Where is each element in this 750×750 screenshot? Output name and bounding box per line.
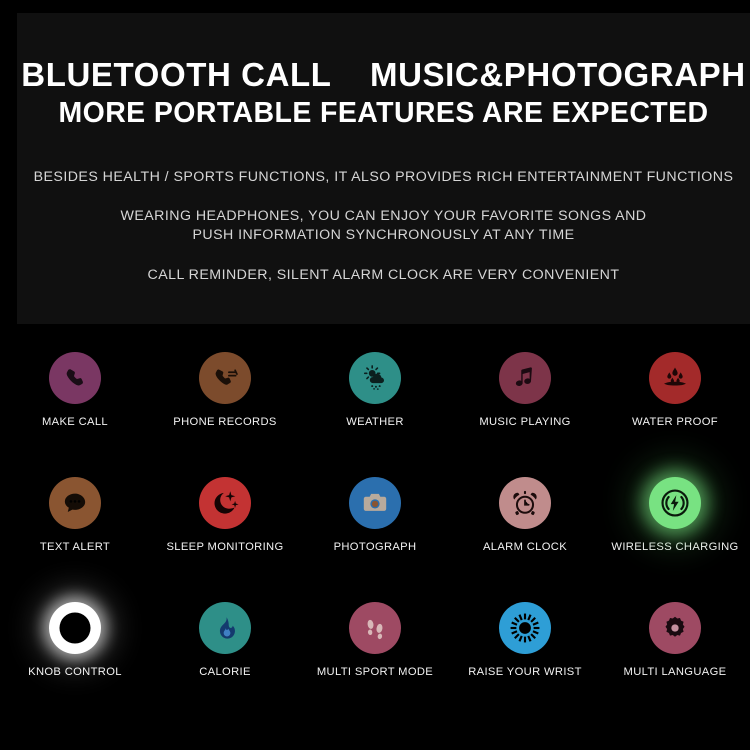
feature-item-water-proof[interactable]: WATER PROOF (600, 352, 750, 477)
speech-bubble-icon[interactable] (49, 477, 101, 529)
feature-label: MULTI LANGUAGE (624, 666, 727, 678)
feature-label: MULTI SPORT MODE (317, 666, 433, 678)
flame-icon[interactable] (199, 602, 251, 654)
feature-item-knob-control[interactable]: KNOB CONTROL (0, 602, 150, 727)
alarm-clock-icon[interactable] (499, 477, 551, 529)
feature-label: KNOB CONTROL (28, 666, 122, 678)
feature-item-music-playing[interactable]: MUSIC PLAYING (450, 352, 600, 477)
feature-label: PHONE RECORDS (173, 416, 276, 428)
wireless-charging-icon[interactable] (649, 477, 701, 529)
feature-item-multi-language[interactable]: MULTI LANGUAGE (600, 602, 750, 727)
feature-label: WIRELESS CHARGING (611, 541, 738, 553)
feature-label: CALORIE (199, 666, 251, 678)
feature-label: RAISE YOUR WRIST (468, 666, 582, 678)
subcopy-block: BESIDES HEALTH / SPORTS FUNCTIONS, IT AL… (17, 168, 750, 285)
feature-item-wireless-charging[interactable]: WIRELESS CHARGING (600, 477, 750, 602)
feature-label: MAKE CALL (42, 416, 108, 428)
water-drop-icon[interactable] (649, 352, 701, 404)
feature-item-sleep-monitoring[interactable]: SLEEP MONITORING (150, 477, 300, 602)
headline-secondary: MORE PORTABLE FEATURES ARE EXPECTED (17, 96, 750, 132)
feature-item-alarm-clock[interactable]: ALARM CLOCK (450, 477, 600, 602)
subcopy-line-2: WEARING HEADPHONES, YOU CAN ENJOY YOUR F… (17, 207, 750, 226)
feature-label: PHOTOGRAPH (334, 541, 417, 553)
feature-item-raise-your-wrist[interactable]: RAISE YOUR WRIST (450, 602, 600, 727)
headline-block: BLUETOOTH CALL MUSIC&PHOTOGRAPH MORE POR… (17, 57, 750, 131)
feature-label: MUSIC PLAYING (479, 416, 570, 428)
feature-item-calorie[interactable]: CALORIE (150, 602, 300, 727)
feature-label: ALARM CLOCK (483, 541, 567, 553)
feature-label: WATER PROOF (632, 416, 718, 428)
feature-item-weather[interactable]: WEATHER (300, 352, 450, 477)
subcopy-line-1: BESIDES HEALTH / SPORTS FUNCTIONS, IT AL… (17, 168, 750, 187)
feature-label: TEXT ALERT (40, 541, 110, 553)
camera-icon[interactable] (349, 477, 401, 529)
gear-icon[interactable] (649, 602, 701, 654)
phone-icon[interactable] (49, 352, 101, 404)
headline-primary: BLUETOOTH CALL MUSIC&PHOTOGRAPH (17, 57, 750, 93)
music-note-icon[interactable] (499, 352, 551, 404)
feature-item-multi-sport-mode[interactable]: MULTI SPORT MODE (300, 602, 450, 727)
feature-label: SLEEP MONITORING (166, 541, 283, 553)
feature-item-text-alert[interactable]: TEXT ALERT (0, 477, 150, 602)
feature-grid: MAKE CALLPHONE RECORDSWEATHERMUSIC PLAYI… (0, 352, 750, 727)
brightness-ring-icon[interactable] (499, 602, 551, 654)
hero-banner: BLUETOOTH CALL MUSIC&PHOTOGRAPH MORE POR… (17, 13, 750, 324)
weather-icon[interactable] (349, 352, 401, 404)
feature-item-make-call[interactable]: MAKE CALL (0, 352, 150, 477)
moon-stars-icon[interactable] (199, 477, 251, 529)
knob-gear-icon[interactable] (49, 602, 101, 654)
page-root: BLUETOOTH CALL MUSIC&PHOTOGRAPH MORE POR… (0, 0, 750, 750)
feature-label: WEATHER (346, 416, 404, 428)
footsteps-icon[interactable] (349, 602, 401, 654)
feature-item-photograph[interactable]: PHOTOGRAPH (300, 477, 450, 602)
subcopy-line-3: PUSH INFORMATION SYNCHRONOUSLY AT ANY TI… (17, 226, 750, 245)
subcopy-line-4: CALL REMINDER, SILENT ALARM CLOCK ARE VE… (17, 266, 750, 285)
feature-item-phone-records[interactable]: PHONE RECORDS (150, 352, 300, 477)
phone-records-icon[interactable] (199, 352, 251, 404)
